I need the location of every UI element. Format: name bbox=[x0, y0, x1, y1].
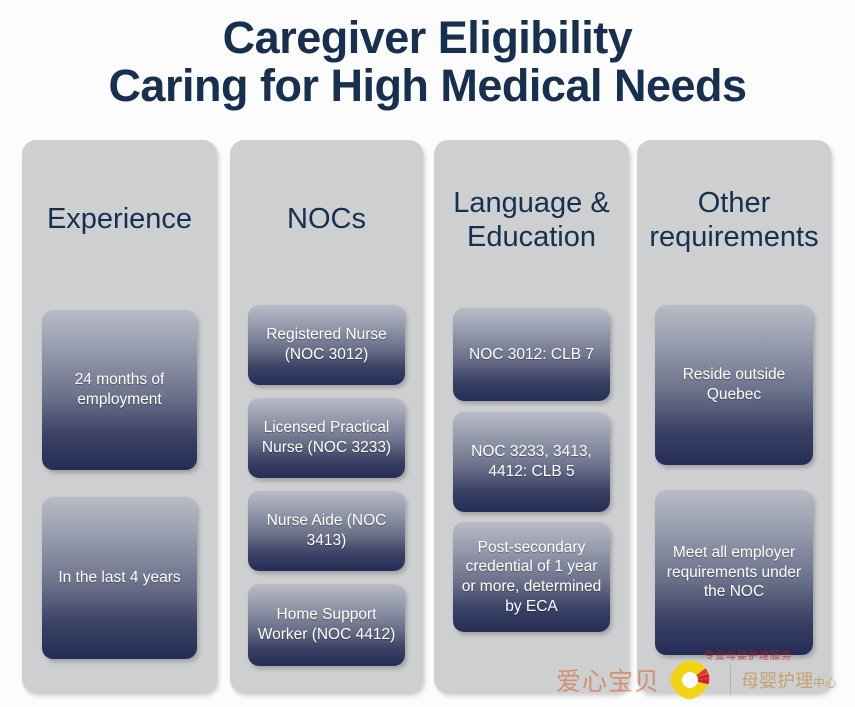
card-language-2: NOC 3233, 3413, 4412: CLB 5 bbox=[453, 412, 610, 512]
title-line-2: Caring for High Medical Needs bbox=[0, 62, 855, 110]
card-noc-1: Registered Nurse (NOC 3012) bbox=[248, 305, 405, 385]
card-other-2-text: Meet all employer requirements under the… bbox=[661, 543, 807, 602]
card-noc-1-text: Registered Nurse (NOC 3012) bbox=[254, 325, 399, 364]
card-experience-2: In the last 4 years bbox=[42, 497, 197, 659]
eligibility-columns: Experience 24 months of employment In th… bbox=[0, 140, 855, 694]
card-experience-1-text: 24 months of employment bbox=[48, 370, 191, 409]
column-header-other-requirements: Other requirements bbox=[637, 187, 831, 254]
title-line-1: Caregiver Eligibility bbox=[0, 14, 855, 62]
card-language-2-text: NOC 3233, 3413, 4412: CLB 5 bbox=[459, 442, 604, 481]
card-noc-3: Nurse Aide (NOC 3413) bbox=[248, 491, 405, 571]
card-other-1-text: Reside outside Quebec bbox=[661, 365, 807, 404]
card-language-3: Post-secondary credential of 1 year or m… bbox=[453, 522, 610, 632]
column-header-experience: Experience bbox=[22, 203, 217, 237]
card-language-1-text: NOC 3012: CLB 7 bbox=[459, 345, 604, 365]
card-noc-2: Licensed Practical Nurse (NOC 3233) bbox=[248, 398, 405, 478]
column-language-education: Language & Education NOC 3012: CLB 7 NOC… bbox=[434, 140, 629, 693]
column-header-nocs: NOCs bbox=[230, 203, 423, 237]
card-noc-3-text: Nurse Aide (NOC 3413) bbox=[254, 511, 399, 550]
column-header-language-education: Language & Education bbox=[434, 187, 629, 254]
column-experience: Experience 24 months of employment In th… bbox=[22, 140, 217, 693]
card-experience-1: 24 months of employment bbox=[42, 310, 197, 470]
card-language-3-text: Post-secondary credential of 1 year or m… bbox=[459, 538, 604, 617]
card-noc-4: Home Support Worker (NOC 4412) bbox=[248, 584, 405, 666]
card-noc-4-text: Home Support Worker (NOC 4412) bbox=[254, 605, 399, 644]
card-other-2: Meet all employer requirements under the… bbox=[655, 490, 813, 655]
card-language-1: NOC 3012: CLB 7 bbox=[453, 308, 610, 401]
column-nocs: NOCs Registered Nurse (NOC 3012) License… bbox=[230, 140, 423, 693]
card-other-1: Reside outside Quebec bbox=[655, 305, 813, 465]
column-other-requirements: Other requirements Reside outside Quebec… bbox=[637, 140, 831, 693]
page-title: Caregiver Eligibility Caring for High Me… bbox=[0, 14, 855, 110]
card-experience-2-text: In the last 4 years bbox=[48, 568, 191, 588]
card-noc-2-text: Licensed Practical Nurse (NOC 3233) bbox=[254, 418, 399, 457]
